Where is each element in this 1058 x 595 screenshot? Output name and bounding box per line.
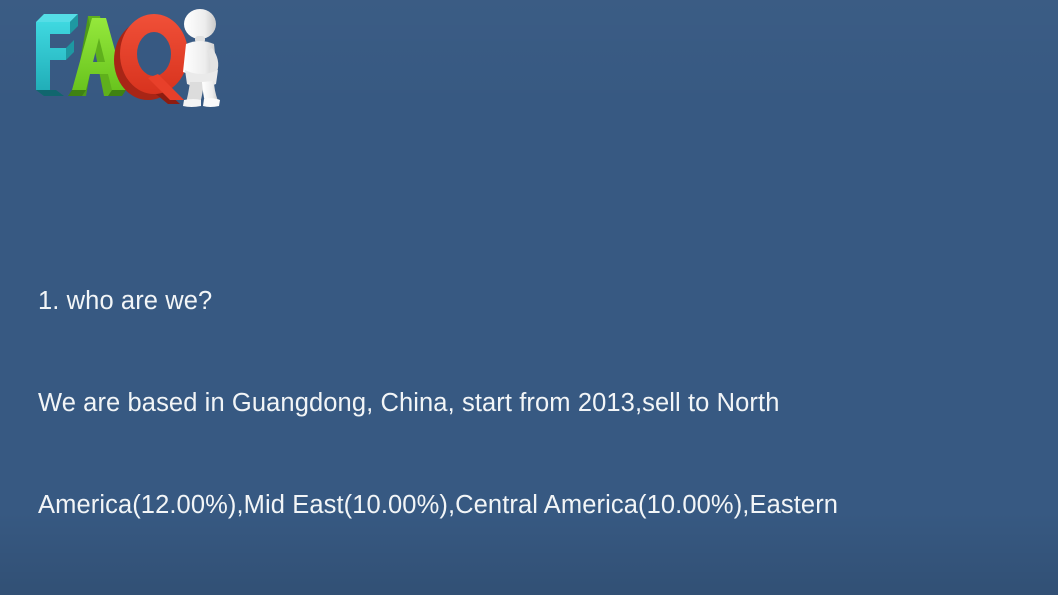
- faq-answer-1-line-3: Europe(9.00%),Oceania(9.00%),Western Eur…: [38, 590, 1043, 595]
- logo-letter-f: [36, 14, 78, 96]
- faq-question-1: 1. who are we?: [38, 284, 1043, 318]
- faq-body: 1. who are we? We are based in Guangdong…: [38, 114, 1043, 595]
- faq-logo: [30, 4, 230, 108]
- faq-item-1: 1. who are we? We are based in Guangdong…: [38, 216, 1043, 595]
- logo-3d-figure: [183, 9, 220, 107]
- faq-slide: 1. who are we? We are based in Guangdong…: [0, 0, 1058, 595]
- faq-answer-1-line-1: We are based in Guangdong, China, start …: [38, 386, 1043, 420]
- faq-answer-1-line-2: America(12.00%),Mid East(10.00%),Central…: [38, 488, 1043, 522]
